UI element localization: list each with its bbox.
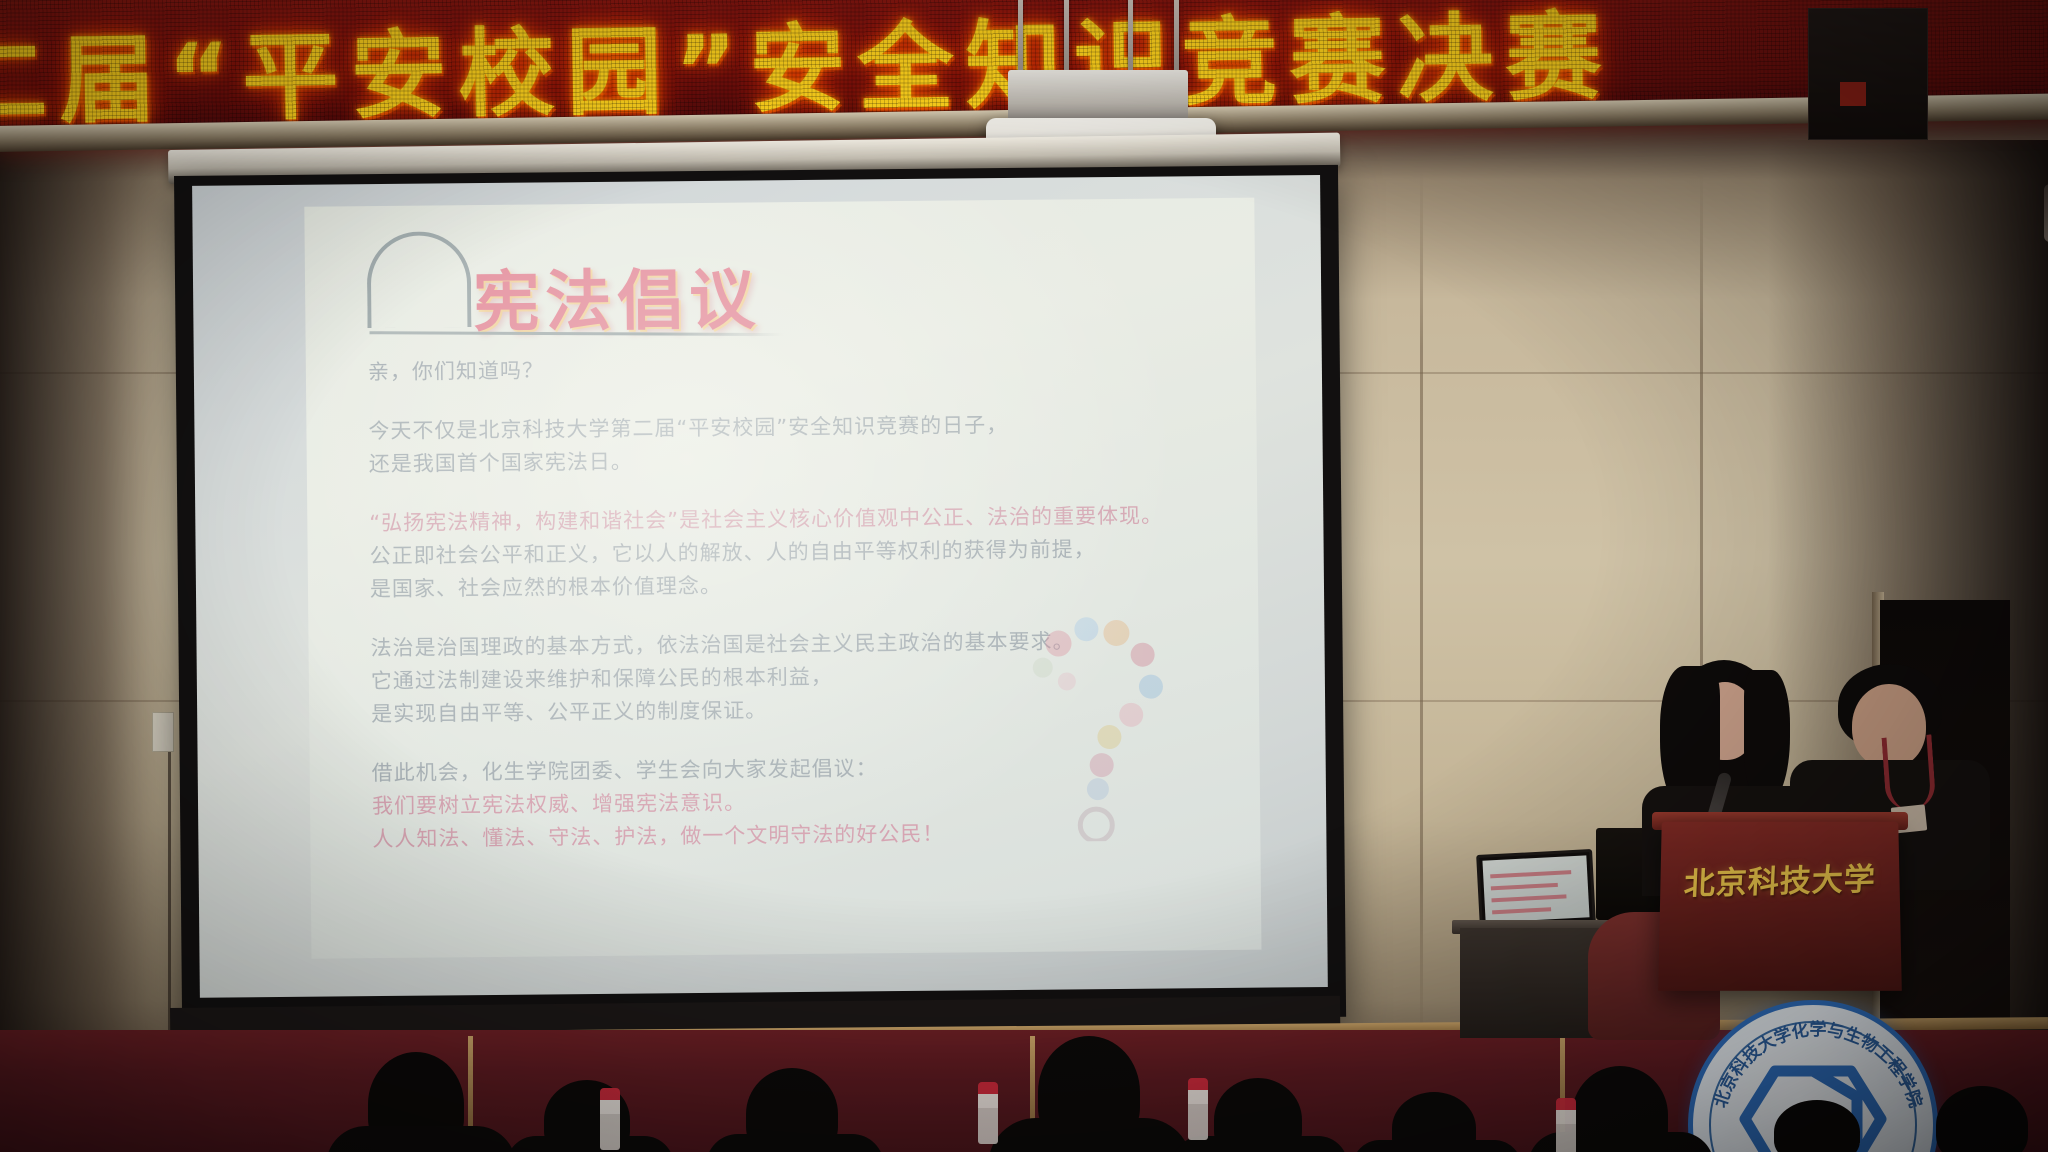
projection-screen-surface: 宪法倡议 亲，你们知道吗？ 今天不仅是北京科技大学第二届“平安校园”安全知识竞赛… — [192, 175, 1328, 998]
lanyard — [1881, 734, 1936, 811]
projector-mount — [1012, 0, 1182, 66]
wall-switch-plate — [152, 712, 174, 752]
slide-title: 宪法倡议 — [473, 246, 762, 345]
water-bottle — [1188, 1078, 1208, 1140]
slide-paragraph-highlight: “弘扬宪法精神，构建和谐社会”是社会主义核心价值观中公正、法治的重要体现。 公正… — [369, 499, 1190, 606]
speaker-indicator — [1840, 82, 1866, 106]
wall-seam-vertical — [1420, 170, 1423, 1050]
audience-shoulders — [988, 1118, 1192, 1152]
presentation-laptop — [1476, 849, 1596, 929]
question-mark-decoration-icon — [1030, 610, 1182, 841]
projection-screen: 宪法倡议 亲，你们知道吗？ 今天不仅是北京科技大学第二届“平安校园”安全知识竞赛… — [174, 165, 1346, 1028]
audience-shoulders — [1352, 1140, 1522, 1152]
water-bottle — [1556, 1098, 1576, 1152]
svg-text:北京科技大学化学与生物工程学院: 北京科技大学化学与生物工程学院 — [1711, 1019, 1926, 1110]
presentation-slide: 宪法倡议 亲，你们知道吗？ 今天不仅是北京科技大学第二届“平安校园”安全知识竞赛… — [304, 198, 1261, 959]
laptop-screen-content — [1482, 855, 1589, 922]
speaker-box — [1808, 8, 1928, 140]
podium — [1658, 822, 1902, 991]
water-bottle — [600, 1088, 620, 1150]
audience-shoulders — [706, 1134, 884, 1152]
water-bottle — [978, 1082, 998, 1144]
slide-decorative-arc — [367, 231, 472, 328]
slide-paragraph-question: 亲，你们知道吗？ — [368, 348, 1188, 389]
wall-cable — [168, 752, 171, 1040]
photograph-scene: 二届“平安校园”安全知识竞赛决赛 EPSON 宪法倡议 亲，你们知道吗？ — [0, 0, 2048, 1152]
wall-shadow-left — [0, 150, 170, 1050]
audience-shoulders — [506, 1136, 674, 1152]
projector-bracket — [1008, 70, 1188, 124]
audience-shoulders — [326, 1126, 516, 1152]
projector-lens — [2044, 184, 2048, 242]
podium-institution-label: 北京科技大学 — [1675, 853, 1885, 904]
slide-paragraph-intro: 今天不仅是北京科技大学第二届“平安校园”安全知识竞赛的日子， 还是我国首个国家宪… — [368, 407, 1189, 481]
